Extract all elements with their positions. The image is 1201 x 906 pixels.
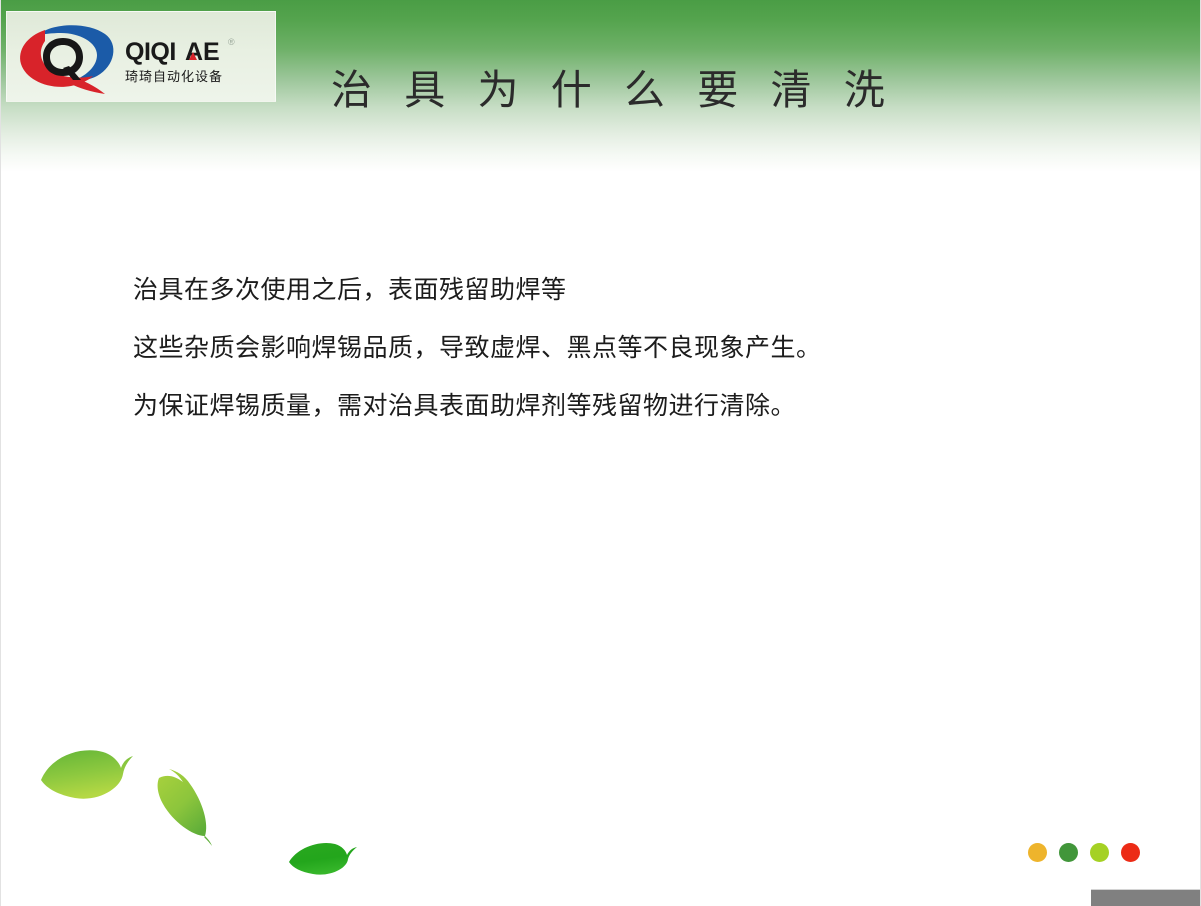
svg-text:AE: AE [185, 38, 220, 66]
svg-text:QIQI: QIQI [125, 38, 176, 66]
leaf-small-right-icon [287, 838, 359, 878]
dot-lime [1090, 843, 1109, 862]
dot-red [1121, 843, 1140, 862]
svg-text:®: ® [228, 37, 235, 47]
dot-amber [1028, 843, 1047, 862]
svg-text:琦琦自动化设备: 琦琦自动化设备 [125, 69, 223, 85]
body-text-block: 治具在多次使用之后，表面残留助焊等 这些杂质会影响焊锡品质，导致虚焊、黑点等不良… [133, 262, 1063, 436]
body-line: 这些杂质会影响焊锡品质，导致虚焊、黑点等不良现象产生。 [133, 320, 1063, 378]
body-line: 治具在多次使用之后，表面残留助焊等 [133, 262, 1063, 320]
leaf-large-left-icon [37, 740, 137, 810]
dot-green [1059, 843, 1078, 862]
qiqi-ae-wordmark: QIQI AE ® 琦琦自动化设备 [125, 34, 270, 86]
bottom-status-bar [1091, 889, 1201, 906]
page-title: 治 具 为 什 么 要 清 洗 [331, 66, 851, 114]
qiqi-q-swoosh-icon [15, 18, 123, 96]
company-logo: QIQI AE ® 琦琦自动化设备 [6, 11, 276, 102]
presentation-slide: QIQI AE ® 琦琦自动化设备 治 具 为 什 么 要 清 洗 治具在多次使… [0, 0, 1201, 906]
leaf-mid-icon [149, 766, 229, 846]
decorative-dot-row [1028, 843, 1140, 862]
body-line: 为保证焊锡质量，需对治具表面助焊剂等残留物进行清除。 [133, 378, 1063, 436]
